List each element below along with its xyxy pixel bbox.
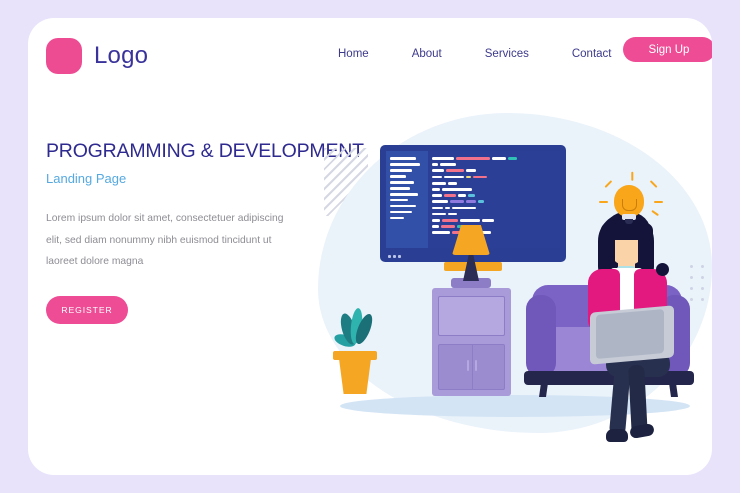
main-nav: Home About Services Contact	[338, 48, 612, 60]
hero-copy: PROGRAMMING & DEVELOPMENT Landing Page L…	[46, 140, 346, 273]
sofa-armrest-left	[526, 295, 556, 377]
site-header: Logo Home About Services Contact Sign Up	[28, 18, 712, 96]
plant-pot	[336, 356, 374, 394]
nav-item-home[interactable]: Home	[338, 48, 369, 60]
cabinet-shelf	[438, 296, 505, 336]
landing-page-mockup: Logo Home About Services Contact Sign Up…	[0, 0, 740, 493]
monitor-indicator-dots	[388, 255, 401, 258]
cabinet-handle-right	[475, 360, 477, 371]
dot-grid-decoration	[690, 265, 712, 309]
person-shoe-front	[606, 429, 628, 442]
logo-mark-icon	[46, 38, 82, 74]
logo-text: Logo	[94, 42, 148, 70]
nav-item-about[interactable]: About	[412, 48, 442, 60]
logo[interactable]: Logo	[46, 38, 148, 74]
page-card: Logo Home About Services Contact Sign Up…	[28, 18, 712, 475]
editor-sidebar	[386, 151, 428, 248]
register-button[interactable]: REGISTER	[46, 296, 128, 324]
laptop-screen	[596, 309, 664, 359]
person-shoe-back	[629, 423, 655, 439]
page-title: PROGRAMMING & DEVELOPMENT	[46, 140, 346, 163]
hero-illustration	[318, 113, 712, 475]
cabinet-door-divider	[472, 344, 474, 390]
hero-body-text: Lorem ipsum dolor sit amet, consectetuer…	[46, 208, 296, 273]
nav-item-contact[interactable]: Contact	[572, 48, 612, 60]
lightbulb-base	[625, 219, 633, 224]
editor-code-area	[428, 151, 560, 248]
plant-pot-rim	[333, 351, 377, 360]
cabinet-handle-left	[467, 360, 469, 371]
person-elbow	[656, 263, 669, 276]
sign-up-button[interactable]: Sign Up	[623, 37, 712, 62]
cabinet	[432, 288, 511, 396]
page-subtitle: Landing Page	[46, 171, 346, 186]
sofa-leg-right	[669, 383, 678, 397]
lightbulb-filament	[622, 199, 637, 211]
nav-item-services[interactable]: Services	[485, 48, 529, 60]
